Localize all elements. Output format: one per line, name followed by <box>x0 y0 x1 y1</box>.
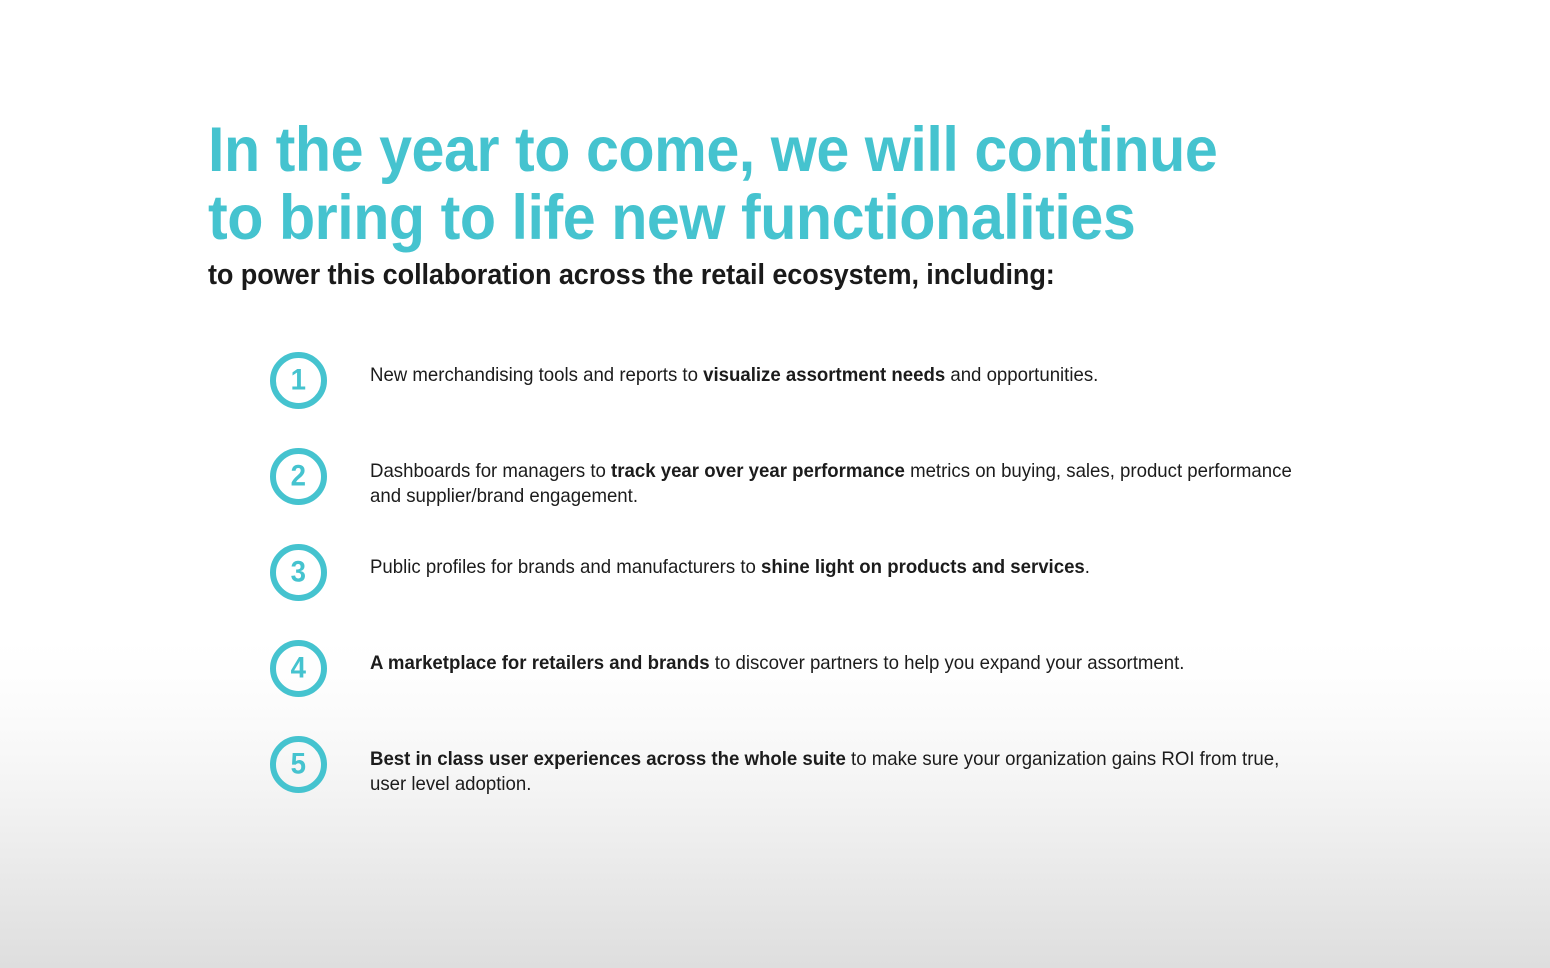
list-number-badge: 3 <box>270 544 327 601</box>
list-item: 1New merchandising tools and reports to … <box>270 352 1370 448</box>
numbered-list: 1New merchandising tools and reports to … <box>270 352 1370 832</box>
list-item-text-strong: Best in class user experiences across th… <box>370 749 846 770</box>
list-item-text: A marketplace for retailers and brands t… <box>370 651 1321 676</box>
list-item-text-strong: A marketplace for retailers and brands <box>370 653 710 674</box>
list-item-text-plain: and opportunities. <box>945 365 1098 386</box>
subheadline: to power this collaboration across the r… <box>208 258 1329 292</box>
list-item-text-strong: visualize assortment needs <box>703 365 945 386</box>
list-number-badge: 1 <box>270 352 327 409</box>
list-item-text-plain: Public profiles for brands and manufactu… <box>370 557 761 578</box>
list-number-badge: 4 <box>270 640 327 697</box>
list-item-text-plain: New merchandising tools and reports to <box>370 365 703 386</box>
list-item-text-strong: track year over year performance <box>611 461 905 482</box>
list-item-text: Dashboards for managers to track year ov… <box>370 459 1321 509</box>
list-item-text: New merchandising tools and reports to v… <box>370 363 1321 388</box>
list-number-badge: 5 <box>270 736 327 793</box>
list-item-text-plain: to discover partners to help you expand … <box>710 653 1185 674</box>
list-item-text-strong: shine light on products and services <box>761 557 1085 578</box>
list-number-label: 1 <box>291 365 306 395</box>
list-item: 2Dashboards for managers to track year o… <box>270 448 1370 544</box>
slide-canvas: In the year to come, we will continue to… <box>0 0 1550 968</box>
list-number-badge: 2 <box>270 448 327 505</box>
list-item: 4A marketplace for retailers and brands … <box>270 640 1370 736</box>
list-number-label: 4 <box>291 653 306 683</box>
headline-line-1: In the year to come, we will continue <box>208 116 1317 184</box>
list-item: 3Public profiles for brands and manufact… <box>270 544 1370 640</box>
list-item-text: Best in class user experiences across th… <box>370 747 1321 797</box>
list-item-text-plain: . <box>1085 557 1090 578</box>
list-item-text: Public profiles for brands and manufactu… <box>370 555 1321 580</box>
list-item-text-plain: Dashboards for managers to <box>370 461 611 482</box>
list-number-label: 2 <box>291 461 306 491</box>
headline-block: In the year to come, we will continue to… <box>208 116 1388 292</box>
list-number-label: 5 <box>291 749 306 779</box>
headline-line-2: to bring to life new functionalities <box>208 184 1317 252</box>
list-item: 5Best in class user experiences across t… <box>270 736 1370 832</box>
list-number-label: 3 <box>291 557 306 587</box>
